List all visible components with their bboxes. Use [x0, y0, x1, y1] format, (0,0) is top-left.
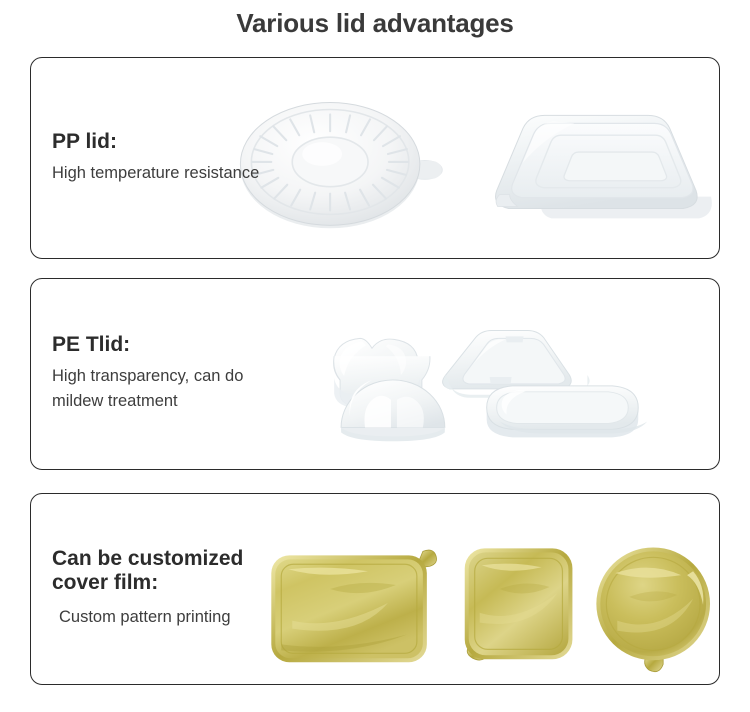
round-gold-foil-shape [596, 547, 710, 671]
heart-pet-lid-shape [334, 338, 430, 407]
pp-lid-text-block: PP lid: High temperature resistance [52, 130, 259, 186]
round-pp-lid-shape [240, 103, 442, 229]
rectangular-gold-foil-shape [271, 550, 436, 662]
square-gold-foil-shape [465, 548, 573, 660]
card-cover-film: Can be customized cover film: Custom pat… [30, 493, 720, 685]
pp-lid-heading: PP lid: [52, 130, 259, 154]
pet-lid-subtitle: High transparency, can do mildew treatme… [52, 364, 243, 415]
pet-lid-text-block: PE Tlid: High transparency, can do milde… [52, 333, 243, 415]
card-pp-lid: PP lid: High temperature resistance [30, 57, 720, 259]
cover-film-subtitle: Custom pattern printing [52, 601, 243, 631]
oval-pet-lid-shape [487, 386, 648, 437]
pet-lid-heading: PE Tlid: [52, 333, 243, 357]
pp-lid-subtitle: High temperature resistance [52, 160, 259, 186]
page-title: Various lid advantages [0, 8, 750, 39]
dome-pet-lid-shape [341, 380, 445, 441]
square-pet-lid-shape [443, 330, 590, 397]
cover-film-text-block: Can be customized cover film: Custom pat… [52, 547, 243, 631]
rectangular-pp-lid-shape [496, 115, 712, 218]
cover-film-heading: Can be customized cover film: [52, 547, 243, 594]
card-pet-lid: PE Tlid: High transparency, can do milde… [30, 278, 720, 470]
